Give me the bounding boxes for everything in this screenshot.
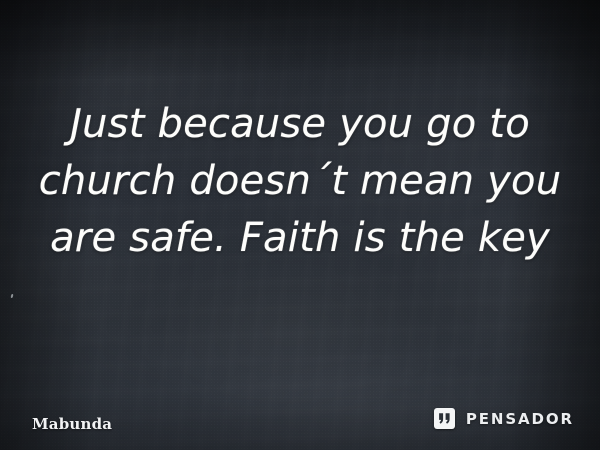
quote-mark-icon [434, 408, 455, 429]
quote-line-1: Just because you go to [22, 96, 578, 153]
author-name: Mabunda [32, 415, 112, 433]
quote-card: Just because you go to church doesn´t me… [0, 0, 600, 450]
quote-line-3: are safe. Faith is the key [22, 210, 578, 267]
quote-text: Just because you go to church doesn´t me… [0, 96, 600, 267]
pensador-wordmark: PENSADOR [466, 410, 574, 428]
quote-line-2: church doesn´t mean you [22, 153, 578, 210]
pensador-logo[interactable]: PENSADOR [434, 408, 574, 429]
